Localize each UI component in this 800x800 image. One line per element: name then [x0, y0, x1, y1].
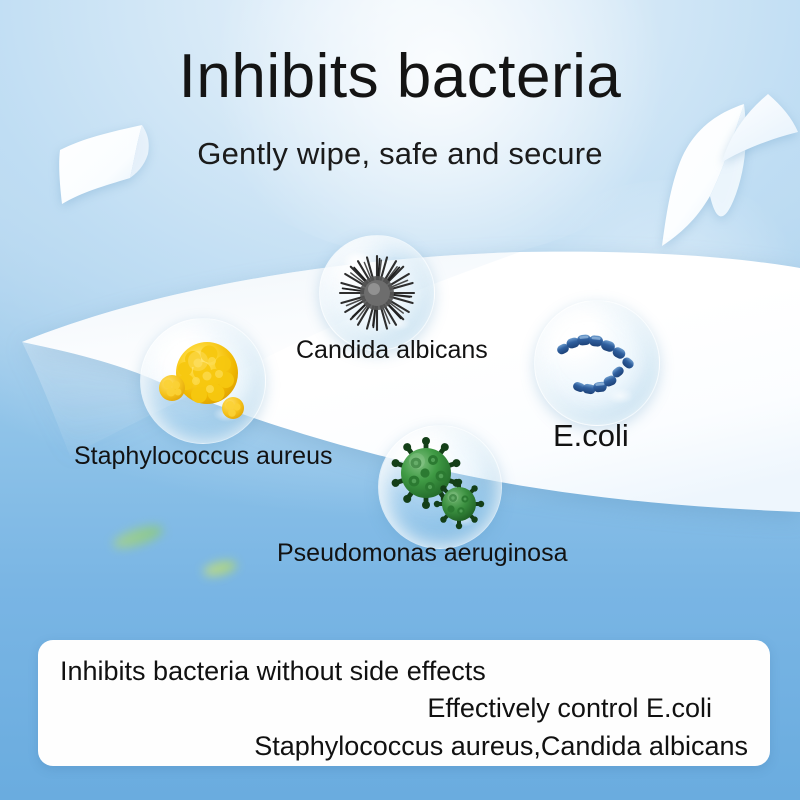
- bubble-staphylococcus: [140, 318, 266, 444]
- pseudomonas-aeruginosa-icon: [379, 426, 501, 548]
- bubble-candida: [319, 235, 435, 351]
- background-glow-top: [180, 0, 700, 260]
- label-staphylococcus-aureus: Staphylococcus aureus: [74, 442, 332, 471]
- floating-tissue-flake-right: [636, 96, 786, 261]
- benefits-panel: Inhibits bacteria without side effects E…: [38, 640, 770, 766]
- bubble-ecoli: [534, 300, 660, 426]
- benefit-line-2: Effectively control E.coli: [60, 690, 748, 727]
- benefit-line-3: Staphylococcus aureus,Candida albicans: [60, 728, 748, 765]
- bubble-pseudomonas: [378, 425, 502, 549]
- candida-albicans-icon: [320, 236, 434, 350]
- staphylococcus-aureus-icon: [141, 319, 265, 443]
- benefit-line-1: Inhibits bacteria without side effects: [60, 653, 748, 690]
- page-subtitle: Gently wipe, safe and secure: [0, 136, 800, 172]
- product-poster: Inhibits bacteria Gently wipe, safe and …: [0, 0, 800, 800]
- ecoli-icon: [535, 301, 659, 425]
- page-title: Inhibits bacteria: [0, 44, 800, 109]
